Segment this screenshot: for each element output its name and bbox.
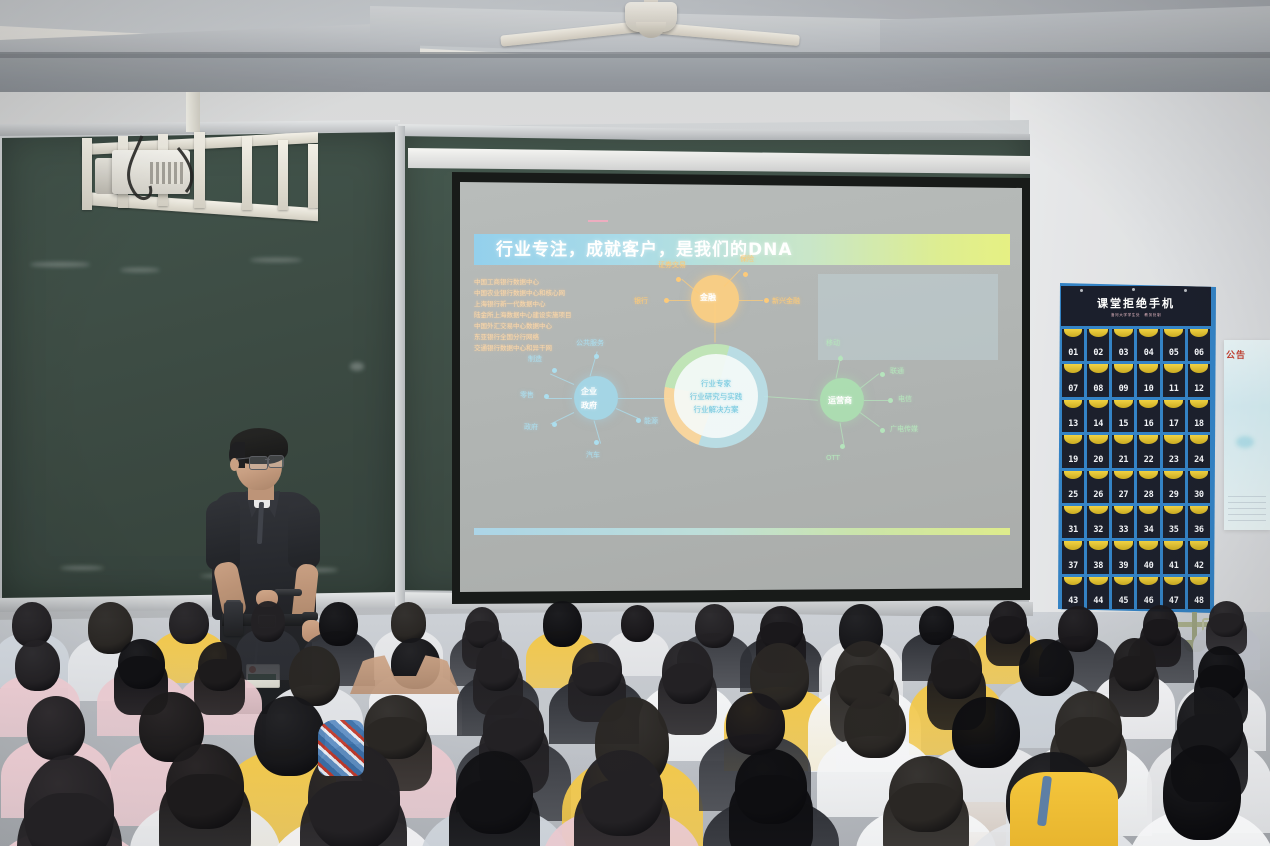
pocket-board-title: 课堂拒绝手机 [1097,295,1175,311]
poster-graphic [1236,436,1254,448]
phone-pocket-number: 42 [1194,561,1204,574]
presenter-clicker [274,589,302,596]
phone-pocket-number: 24 [1194,455,1204,468]
phone-pocket[interactable]: 09 [1111,363,1135,397]
enterprise-node-dot-6 [636,418,641,423]
carrier-node-dot-5 [840,444,845,449]
phone-pocket-number: 30 [1194,490,1204,503]
audience-member-head [844,693,905,758]
enterprise-spoke-3 [546,398,572,399]
cage-bar-vert-6 [278,140,288,210]
audience-member-yellow-top [1010,772,1118,846]
phone-pocket[interactable]: 07 [1061,363,1085,397]
phone-pocket[interactable]: 33 [1111,505,1135,539]
carrier-node-label-4: 广电传媒 [890,424,918,434]
audience-member-head [118,639,165,690]
wall-poster: 公告 [1224,340,1270,530]
chalk-smudge [250,258,302,262]
phone-pocket-number: 37 [1068,561,1078,574]
phone-pocket[interactable]: 10 [1136,363,1160,397]
cage-bar-vert-1 [82,138,92,210]
audience-member-head [251,601,284,642]
phone-pocket[interactable]: 31 [1061,505,1085,539]
finance-spoke-3 [666,300,690,301]
phone-pocket-number: 20 [1093,455,1103,468]
phone-pocket[interactable]: 14 [1086,399,1110,433]
phone-pocket-number: 35 [1169,525,1179,538]
phone-pocket[interactable]: 08 [1086,363,1110,397]
phone-pocket[interactable]: 01 [1061,328,1085,362]
carrier-node-label-2: 联通 [890,366,904,376]
phone-pocket-number: 13 [1068,419,1078,432]
carrier-node-dot-2 [880,372,885,377]
chalk-smudge [30,262,90,267]
phone-pocket-number: 40 [1144,561,1154,574]
phone-pocket[interactable]: 03 [1111,328,1135,362]
carrier-node-label-5: OTT [826,454,840,462]
phone-pocket[interactable]: 42 [1187,540,1211,574]
reference-item: 中国工商银行数据中心 [474,278,539,286]
enterprise-node-label-3: 零售 [520,390,534,400]
phone-pocket[interactable]: 13 [1061,399,1085,433]
finance-node-label-4: 新兴金融 [772,296,800,306]
audience-member-head [254,696,325,775]
board-screw [1184,289,1187,292]
hub-line-3: 行业解决方案 [694,404,739,415]
phone-pocket[interactable]: 35 [1162,505,1186,539]
carrier-node-dot-1 [838,356,843,361]
phone-pocket[interactable]: 36 [1187,505,1211,539]
phone-pocket-number: 18 [1194,419,1204,432]
soffit-edge [0,52,1270,58]
reference-item: 上海银行新一代数据中心 [474,300,546,308]
audience-member-head [1163,745,1240,840]
finance-node-label-3: 银行 [634,296,648,306]
phone-pocket[interactable]: 22 [1136,434,1160,468]
hub-spoke-carrier [764,396,818,401]
audience-member-head [27,696,85,760]
audience-member-head [889,756,963,831]
phone-pocket[interactable]: 12 [1187,363,1211,397]
enterprise-node-label-5: 汽车 [586,450,600,460]
enterprise-node-label-1: 公共服务 [576,338,604,348]
audience-member-head [989,601,1027,644]
phone-pocket[interactable]: 18 [1187,399,1211,433]
finance-node-label-2: 保险 [740,254,754,264]
phone-pocket[interactable]: 30 [1187,470,1211,504]
phone-pocket-board[interactable]: 课堂拒绝手机 洛河大学学生处 教务处制 01020304050607080910… [1058,283,1216,613]
audience-member-head [166,744,245,829]
phone-pocket-number: 39 [1119,561,1129,574]
fan-bottom-cap [636,22,666,38]
enterprise-node-dot-2 [552,368,557,373]
phone-pocket-number: 02 [1093,348,1103,361]
carrier-node-dot-3 [888,398,893,403]
enterprise-node-label-2: 制造 [528,354,542,364]
phone-pocket[interactable]: 28 [1136,470,1160,504]
enterprise-node-dot-5 [594,440,599,445]
pocket-board-subtitle: 洛河大学学生处 教务处制 [1111,313,1161,318]
phone-pocket-number: 41 [1169,561,1179,574]
audience-member-head [952,697,1019,768]
carrier-node-label-3: 电信 [898,394,912,404]
reference-item: 东亚银行全国分行网络 [474,333,539,341]
cluster-center-label-enterprise-2: 政府 [581,400,597,411]
board-screw [1080,289,1083,292]
cluster-center-label-enterprise-1: 企业 [581,386,597,397]
finance-node-label-1: 证券交易 [658,260,686,270]
audience-member-head [581,750,664,836]
audience-member-head [735,749,807,824]
enterprise-spoke-6 [616,408,638,419]
phone-pocket[interactable]: 11 [1162,363,1186,397]
phone-pocket[interactable]: 25 [1061,470,1085,504]
phone-pocket[interactable]: 19 [1061,434,1085,468]
phone-pocket-number: 06 [1194,348,1204,361]
poster-text-lines [1228,496,1266,524]
hub-line-2: 行业研究与实践 [690,391,743,402]
pocket-board-header: 课堂拒绝手机 洛河大学学生处 教务处制 [1061,286,1211,326]
enterprise-node-label-4: 政府 [524,422,538,432]
audience-member-head [695,604,735,648]
slide-reference-panel [818,274,998,360]
phone-pocket[interactable]: 17 [1162,399,1186,433]
phone-pocket-number: 36 [1194,525,1204,538]
phone-pocket-number: 08 [1093,384,1103,397]
reference-item: 交通银行数据中心和异干网 [474,344,552,352]
slide-title: 行业专注，成就客户，是我们的DNA [496,238,976,262]
phone-pocket-number: 29 [1169,490,1179,503]
audience-member-head [572,643,622,695]
audience-member-head [169,602,209,644]
audience-member-head [391,602,427,643]
audience-member-patterned-sleeve [318,720,364,776]
cluster-center-enterprise [574,376,618,420]
carrier-node-label-1: 移动 [826,338,840,348]
phone-pocket[interactable]: 23 [1162,434,1186,468]
phone-pocket-number: 34 [1144,525,1154,538]
phone-pocket-number: 19 [1068,455,1078,468]
phone-pocket[interactable]: 04 [1136,328,1160,362]
audience-area [0,600,1270,846]
audience-member-head [476,641,519,691]
cluster-center-label-carrier: 运营商 [828,395,852,406]
enterprise-node-dot-4 [552,422,557,427]
finance-spoke-4 [739,300,763,301]
phone-pocket-number: 15 [1119,419,1129,432]
reference-highlight-mark [588,220,608,222]
reference-item: 中国农业银行数据中心和核心网 [474,289,565,297]
reference-item: 中国外汇交易中心数据中心 [474,322,552,330]
enterprise-node-dot-1 [594,354,599,359]
phone-pocket-number: 27 [1119,490,1129,503]
phone-pocket[interactable]: 15 [1111,399,1135,433]
presenter-sleeve-left [206,500,240,570]
phone-pocket[interactable]: 06 [1187,328,1211,362]
phone-pocket[interactable]: 37 [1061,540,1085,574]
cluster-center-label-finance: 金融 [700,292,716,303]
finance-node-dot-3 [664,298,669,303]
phone-pocket-number: 32 [1093,525,1103,538]
phone-pocket[interactable]: 34 [1136,505,1160,539]
carrier-spoke-5 [840,422,845,446]
phone-pocket-number: 23 [1169,455,1179,468]
finance-node-dot-1 [676,277,681,282]
phone-pocket[interactable]: 40 [1136,540,1160,574]
phone-pocket[interactable]: 29 [1162,470,1186,504]
phone-pocket-number: 03 [1119,348,1129,361]
chalk-smudge [120,268,160,272]
slide-footer-bar [474,528,1010,535]
phone-pocket[interactable]: 26 [1086,470,1110,504]
phone-pocket-number: 21 [1119,455,1129,468]
audience-member-head [1209,601,1244,637]
audience-member-head [319,602,358,646]
phone-pocket-number: 33 [1119,525,1129,538]
phone-pocket[interactable]: 05 [1162,328,1186,362]
presenter-sleeve-right [288,502,320,568]
phone-pocket[interactable]: 32 [1086,505,1110,539]
chalk-smudge [60,566,104,570]
glasses-lens-right [268,455,284,468]
phone-pocket-number: 07 [1068,384,1078,397]
phone-pocket-number: 28 [1144,490,1154,503]
phone-pocket-number: 22 [1144,455,1154,468]
chalk-smudge [350,362,364,371]
reference-item: 陆金所上海数据中心建设实施项目 [474,311,572,319]
phone-pocket-number: 14 [1093,419,1103,432]
cage-bar-vert-7 [308,144,318,208]
audience-member-head [1143,605,1178,646]
enterprise-node-dot-3 [544,394,549,399]
hub-spoke-enterprise [618,398,670,399]
enterprise-node-label-6: 能源 [644,416,658,426]
finance-node-dot-4 [764,298,769,303]
phone-pocket[interactable]: 39 [1111,540,1135,574]
audience-member-head [931,638,981,699]
classroom-presentation-photo: 行业专注，成就客户，是我们的DNA 中国工商银行数据中心 中国农业银行数据中心和… [0,0,1270,846]
phone-pocket-number: 09 [1119,384,1129,397]
phone-pocket-number: 01 [1068,348,1078,361]
carrier-spoke-2 [860,373,880,389]
ceiling-fan [500,0,800,52]
audience-member-head [621,605,654,642]
phone-pocket[interactable]: 20 [1086,434,1110,468]
poster-title: 公告 [1226,348,1246,361]
phone-pocket-number: 04 [1144,348,1154,361]
carrier-spoke-3 [864,400,888,401]
audience-member-head [198,642,242,691]
phone-pocket[interactable]: 16 [1136,399,1160,433]
phone-pocket[interactable]: 02 [1086,328,1110,362]
audience-member-head [456,751,534,834]
phone-pocket-number: 26 [1093,490,1103,503]
projector-cable [120,134,240,214]
enterprise-spoke-2 [550,373,574,384]
phone-pocket-number: 31 [1068,525,1078,538]
phone-pocket-number: 05 [1169,348,1179,361]
phone-pocket-number: 10 [1144,384,1154,397]
presentation-slide: 行业专注，成就客户，是我们的DNA 中国工商银行数据中心 中国农业银行数据中心和… [468,190,1016,560]
blackboard-rail-divider [395,126,405,606]
phone-pocket[interactable]: 27 [1111,470,1135,504]
phone-pocket[interactable]: 41 [1162,540,1186,574]
audience-member-head [726,693,785,755]
phone-pocket-number: 16 [1144,419,1154,432]
slide-hub-core: 行业专家 行业研究与实践 行业解决方案 [674,354,758,438]
phone-pocket-number: 38 [1093,561,1103,574]
phone-pocket[interactable]: 24 [1187,434,1211,468]
hub-line-1: 行业专家 [701,378,731,389]
phone-pocket[interactable]: 38 [1086,540,1110,574]
phone-pocket-number: 11 [1169,384,1179,397]
finance-node-dot-2 [743,272,748,277]
audience-member-head [543,601,581,646]
board-screw [1132,288,1135,291]
audience-member-head [1019,639,1073,696]
phone-pocket-number: 12 [1194,384,1204,397]
pocket-grid: 0102030405060708091011121314151617181920… [1061,328,1211,610]
audience-member-head [662,641,713,704]
cage-bar-vert-5 [242,136,252,210]
audience-member-head [1113,638,1156,691]
phone-pocket[interactable]: 21 [1111,434,1135,468]
carrier-node-dot-4 [880,428,885,433]
audience-member-head [15,640,60,691]
phone-pocket-number: 17 [1169,419,1179,432]
carrier-spoke-4 [860,412,880,427]
phone-pocket-number: 25 [1068,490,1078,503]
glasses-bridge [265,459,270,460]
